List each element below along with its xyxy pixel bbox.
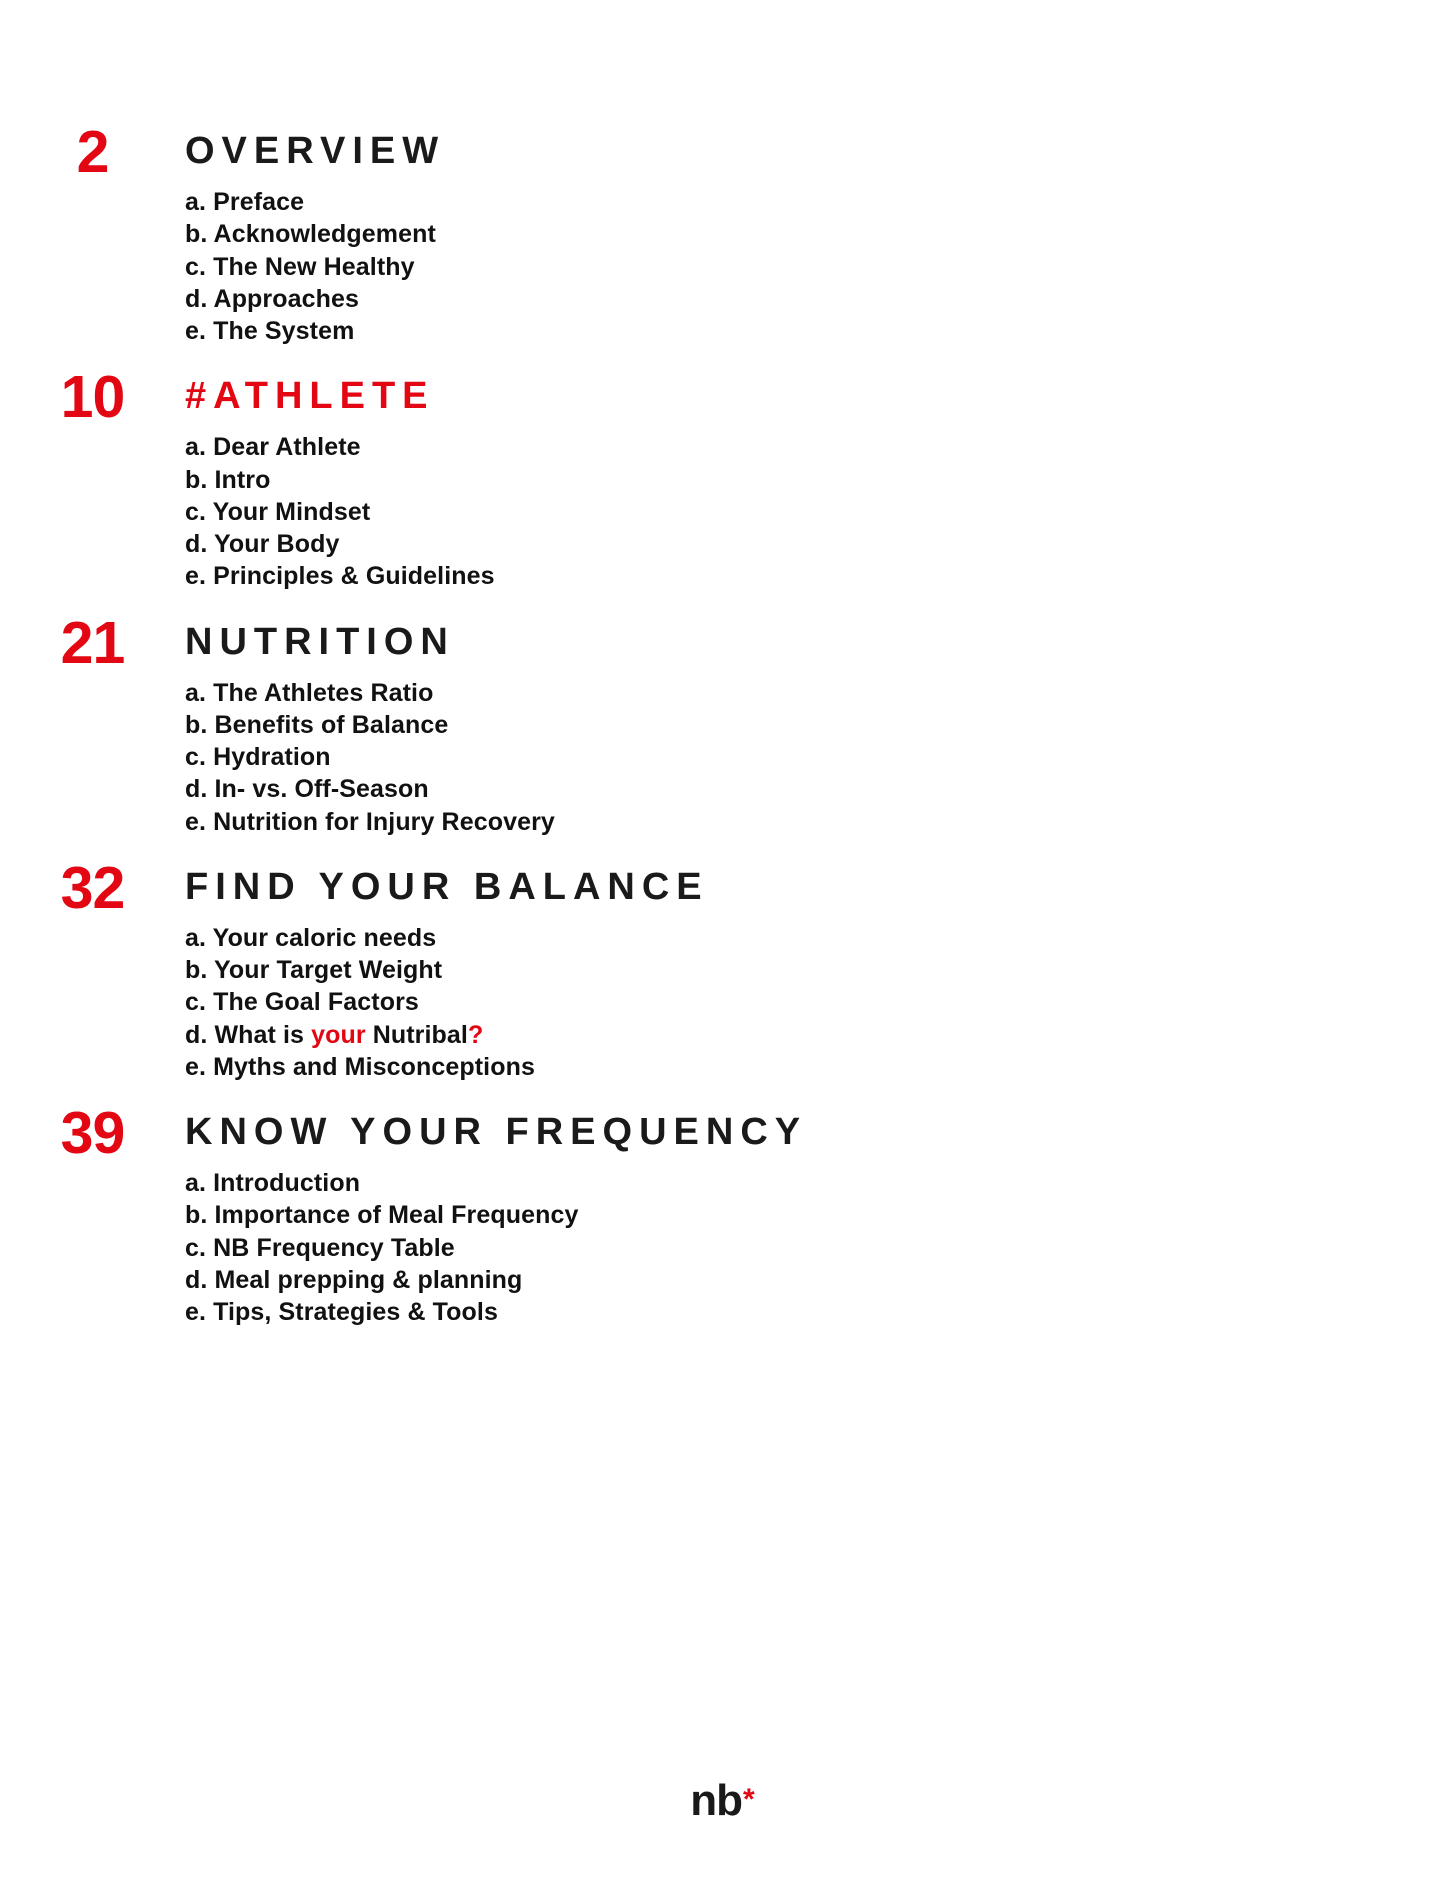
- nutribal-prefix: d. What is: [185, 1021, 311, 1049]
- asterisk-icon: *: [743, 1783, 755, 1816]
- brand-logo: nb*: [0, 1779, 1445, 1823]
- section-page-number: 2: [0, 128, 185, 176]
- list-item[interactable]: a. Introduction: [185, 1167, 860, 1199]
- nutribal-middle: Nutribal: [366, 1021, 468, 1049]
- section-subitem-list: a. Introduction b. Importance of Meal Fr…: [185, 1167, 860, 1328]
- section-page-number: 39: [0, 1109, 185, 1157]
- section-body: FIND YOUR BALANCE a. Your caloric needs …: [185, 864, 860, 1083]
- toc-section-overview[interactable]: 2 OVERVIEW a. Preface b. Acknowledgement…: [0, 128, 860, 347]
- list-item[interactable]: b. Benefits of Balance: [185, 709, 860, 741]
- list-item[interactable]: e. Tips, Strategies & Tools: [185, 1296, 860, 1328]
- list-item[interactable]: e. Nutrition for Injury Recovery: [185, 806, 860, 838]
- list-item[interactable]: c. NB Frequency Table: [185, 1232, 860, 1264]
- section-title: FIND YOUR BALANCE: [185, 868, 860, 906]
- section-page-number: 21: [0, 619, 185, 667]
- section-subitem-list: a. Preface b. Acknowledgement c. The New…: [185, 186, 860, 347]
- list-item[interactable]: c. Hydration: [185, 741, 860, 773]
- section-title: NUTRITION: [185, 623, 860, 661]
- list-item[interactable]: b. Intro: [185, 464, 860, 496]
- toc-section-know-your-frequency[interactable]: 39 KNOW YOUR FREQUENCY a. Introduction b…: [0, 1109, 860, 1328]
- toc-page: 2 OVERVIEW a. Preface b. Acknowledgement…: [0, 0, 1445, 1885]
- nutribal-highlight: your: [311, 1021, 366, 1049]
- section-subitem-list: a. Dear Athlete b. Intro c. Your Mindset…: [185, 431, 860, 592]
- nutribal-question-mark: ?: [468, 1021, 483, 1049]
- section-title: #ATHLETE: [185, 377, 860, 415]
- section-body: NUTRITION a. The Athletes Ratio b. Benef…: [185, 619, 860, 838]
- section-subitem-list: a. The Athletes Ratio b. Benefits of Bal…: [185, 677, 860, 838]
- list-item[interactable]: a. Your caloric needs: [185, 922, 860, 954]
- logo-text: nb: [690, 1776, 742, 1825]
- section-title: KNOW YOUR FREQUENCY: [185, 1113, 860, 1151]
- vertical-title-banner: CONTENTS TABLE OF: [860, 0, 1445, 1010]
- list-item[interactable]: e. Myths and Misconceptions: [185, 1051, 860, 1083]
- list-item[interactable]: e. Principles & Guidelines: [185, 560, 860, 592]
- list-item[interactable]: c. The Goal Factors: [185, 986, 860, 1018]
- section-subitem-list: a. Your caloric needs b. Your Target Wei…: [185, 922, 860, 1083]
- list-item[interactable]: d. Meal prepping & planning: [185, 1264, 860, 1296]
- section-page-number: 32: [0, 864, 185, 912]
- list-item[interactable]: d. Approaches: [185, 283, 860, 315]
- toc-section-athlete[interactable]: 10 #ATHLETE a. Dear Athlete b. Intro c. …: [0, 373, 860, 592]
- toc-section-find-your-balance[interactable]: 32 FIND YOUR BALANCE a. Your caloric nee…: [0, 864, 860, 1083]
- list-item[interactable]: e. The System: [185, 315, 860, 347]
- list-item[interactable]: a. Dear Athlete: [185, 431, 860, 463]
- list-item[interactable]: d. Your Body: [185, 528, 860, 560]
- section-body: #ATHLETE a. Dear Athlete b. Intro c. You…: [185, 373, 860, 592]
- list-item-nutribal[interactable]: d. What is your Nutribal?: [185, 1019, 860, 1051]
- section-title: OVERVIEW: [185, 132, 860, 170]
- list-item[interactable]: c. Your Mindset: [185, 496, 860, 528]
- list-item[interactable]: d. In- vs. Off-Season: [185, 773, 860, 805]
- section-body: OVERVIEW a. Preface b. Acknowledgement c…: [185, 128, 860, 347]
- section-page-number: 10: [0, 373, 185, 421]
- list-item[interactable]: b. Acknowledgement: [185, 218, 860, 250]
- list-item[interactable]: b. Importance of Meal Frequency: [185, 1199, 860, 1231]
- list-item[interactable]: c. The New Healthy: [185, 251, 860, 283]
- section-body: KNOW YOUR FREQUENCY a. Introduction b. I…: [185, 1109, 860, 1328]
- list-item[interactable]: a. Preface: [185, 186, 860, 218]
- list-item[interactable]: b. Your Target Weight: [185, 954, 860, 986]
- toc-section-nutrition[interactable]: 21 NUTRITION a. The Athletes Ratio b. Be…: [0, 619, 860, 838]
- list-item[interactable]: a. The Athletes Ratio: [185, 677, 860, 709]
- table-of-contents-list: 2 OVERVIEW a. Preface b. Acknowledgement…: [0, 128, 860, 1328]
